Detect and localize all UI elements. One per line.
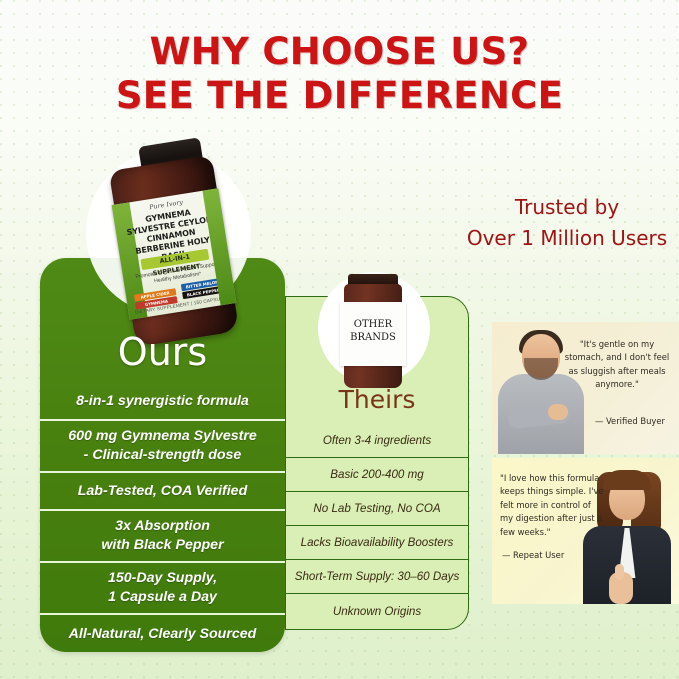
other-bottle-label-text: OTHER BRANDS xyxy=(340,318,406,344)
theirs-item-3: No Lab Testing, No COA xyxy=(285,492,469,526)
ours-list: 8-in-1 synergistic formula 600 mg Gymnem… xyxy=(40,383,285,653)
person-hand xyxy=(548,404,568,420)
ours-item-1: 8-in-1 synergistic formula xyxy=(40,383,285,421)
theirs-item-4: Lacks Bioavailability Boosters xyxy=(285,526,469,560)
thumbs-up-icon xyxy=(615,564,624,580)
other-label-line-2: BRANDS xyxy=(350,332,396,343)
trusted-line-1: Trusted by xyxy=(455,192,679,223)
ours-item-3: Lab-Tested, COA Verified xyxy=(40,473,285,511)
theirs-item-6: Unknown Origins xyxy=(285,594,469,628)
trusted-line-2: Over 1 Million Users xyxy=(455,223,679,254)
testimonial-card-1: "It's gentle on my stomach, and I don't … xyxy=(492,322,679,454)
testimonial-card-2: "I love how this formula keeps things si… xyxy=(492,458,679,604)
other-label-line-1: OTHER xyxy=(354,319,392,330)
bottle-label: Pure Ivory GYMNEMA SYLVESTRE CEYLON CINN… xyxy=(112,188,237,319)
theirs-heading: Theirs xyxy=(285,385,469,415)
ours-item-6: All-Natural, Clearly Sourced xyxy=(40,615,285,653)
ours-item-5: 150-Day Supply,1 Capsule a Day xyxy=(40,563,285,615)
person-hair-top xyxy=(603,470,651,490)
page-title: WHY CHOOSE US? SEE THE DIFFERENCE xyxy=(0,30,679,118)
title-line-2: SEE THE DIFFERENCE xyxy=(0,74,679,118)
theirs-list: Often 3-4 ingredients Basic 200-400 mg N… xyxy=(285,424,469,628)
ours-item-4: 3x Absorptionwith Black Pepper xyxy=(40,511,285,563)
theirs-item-2: Basic 200-400 mg xyxy=(285,458,469,492)
product-bottle: Pure Ivory GYMNEMA SYLVESTRE CEYLON CINN… xyxy=(78,140,256,355)
theirs-item-1: Often 3-4 ingredients xyxy=(285,424,469,458)
infographic-canvas: WHY CHOOSE US? SEE THE DIFFERENCE Truste… xyxy=(0,0,679,679)
testimonial-quote-1: "It's gentle on my stomach, and I don't … xyxy=(563,338,671,392)
theirs-item-5: Short-Term Supply: 30–60 Days xyxy=(285,560,469,594)
testimonial-author-2: — Repeat User xyxy=(502,550,564,560)
ours-heading: Ours xyxy=(40,330,285,374)
testimonial-quote-2: "I love how this formula keeps things si… xyxy=(500,472,604,539)
testimonial-author-1: — Verified Buyer xyxy=(595,416,665,426)
other-brands-bottle: OTHER BRANDS xyxy=(316,272,432,394)
ours-item-2: 600 mg Gymnema Sylvestre- Clinical-stren… xyxy=(40,421,285,473)
trusted-by-block: Trusted by Over 1 Million Users xyxy=(455,192,679,254)
title-line-1: WHY CHOOSE US? xyxy=(0,30,679,74)
other-bottle-label: OTHER BRANDS xyxy=(340,302,406,366)
